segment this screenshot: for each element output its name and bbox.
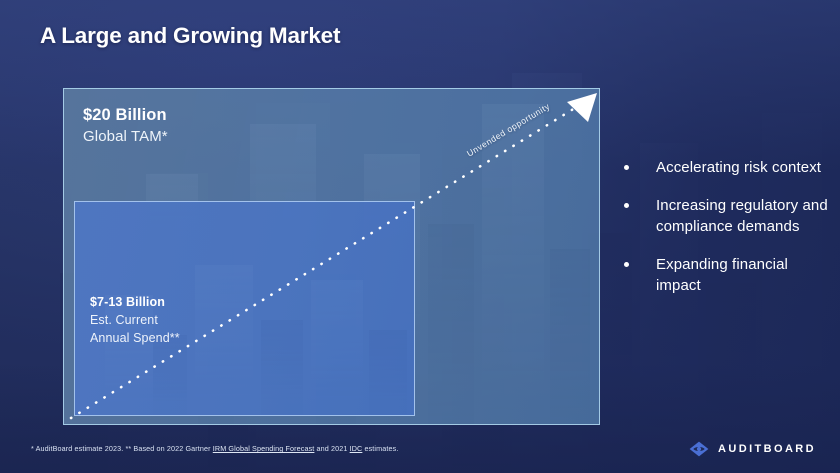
footnote-link-idc[interactable]: IDC — [350, 444, 363, 453]
bullet-dot-icon — [624, 262, 629, 267]
list-item: Expanding financial impact — [624, 254, 832, 297]
bullet-dot-icon — [624, 165, 629, 170]
auditboard-logo: AUDITBOARD — [689, 441, 816, 457]
spend-box: $7-13 Billion Est. Current Annual Spend*… — [74, 201, 415, 416]
tam-subtitle: Global TAM* — [83, 126, 168, 147]
spend-subtitle-line1: Est. Current — [90, 311, 180, 329]
page-title: A Large and Growing Market — [40, 23, 340, 49]
auditboard-mark-icon — [689, 441, 709, 457]
footnote-link-gartner[interactable]: IRM Global Spending Forecast — [213, 444, 315, 453]
list-item: Increasing regulatory and compliance dem… — [624, 195, 832, 238]
spend-amount: $7-13 Billion — [90, 293, 180, 311]
bullet-text: Increasing regulatory and compliance dem… — [656, 195, 832, 238]
bullet-text: Accelerating risk context — [656, 157, 821, 179]
spend-subtitle-line2: Annual Spend** — [90, 329, 180, 347]
footnote-part2: and 2021 — [314, 444, 349, 453]
bullet-list: Accelerating risk context Increasing reg… — [624, 157, 832, 313]
footnote: * AuditBoard estimate 2023. ** Based on … — [31, 444, 398, 453]
bullet-dot-icon — [624, 203, 629, 208]
tam-amount: $20 Billion — [83, 105, 168, 126]
spend-label: $7-13 Billion Est. Current Annual Spend*… — [90, 293, 180, 347]
bullet-text: Expanding financial impact — [656, 254, 832, 297]
footnote-part1: * AuditBoard estimate 2023. ** Based on … — [31, 444, 213, 453]
footnote-part3: estimates. — [362, 444, 398, 453]
auditboard-logo-text: AUDITBOARD — [718, 443, 816, 455]
slide-canvas: A Large and Growing Market $20 Billion G… — [0, 0, 840, 473]
list-item: Accelerating risk context — [624, 157, 832, 179]
tam-label: $20 Billion Global TAM* — [83, 105, 168, 147]
